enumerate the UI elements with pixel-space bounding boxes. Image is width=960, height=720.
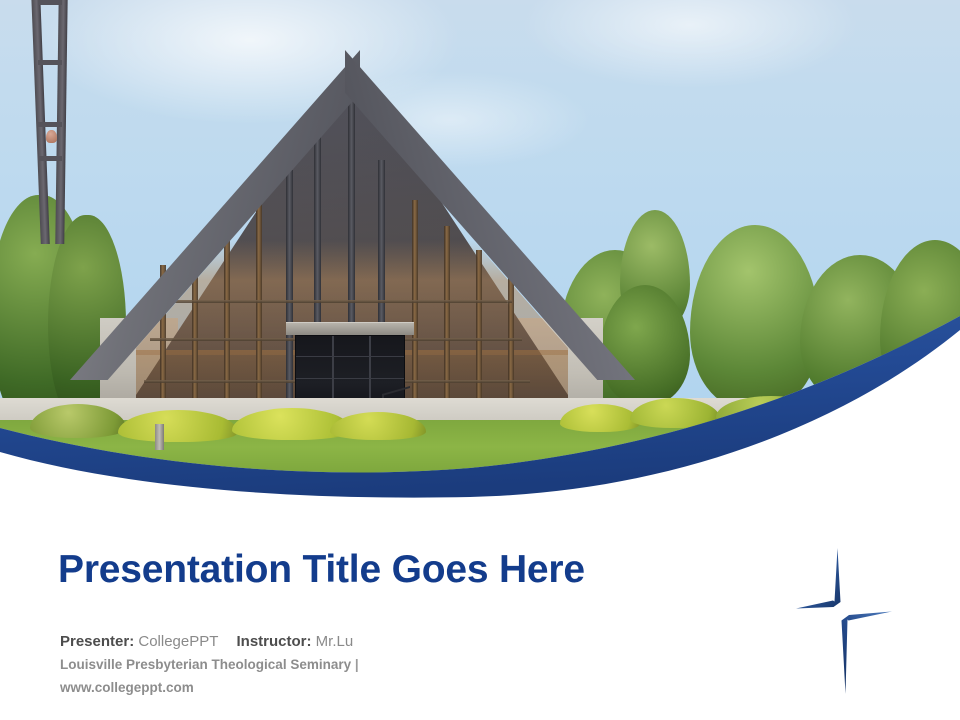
window-transom xyxy=(160,300,512,303)
window-mullion xyxy=(476,250,482,413)
presenter-value: CollegePPT xyxy=(138,633,218,650)
tower-crossbar xyxy=(38,122,62,127)
presenter-line: Presenter: CollegePPT Instructor: Mr.Lu xyxy=(60,630,359,653)
bell-tower xyxy=(34,0,68,244)
church-building xyxy=(100,50,600,450)
presentation-slide: Presentation Title Goes Here Presenter: … xyxy=(0,0,960,720)
hero-photo-region xyxy=(0,0,960,500)
door-rail xyxy=(296,378,404,379)
meta-separator: | xyxy=(355,657,359,672)
website-line: www.collegeppt.com xyxy=(60,676,359,699)
organization-line: Louisville Presbyterian Theological Semi… xyxy=(60,653,359,676)
window-mullion xyxy=(444,226,450,413)
door-rail xyxy=(296,356,404,357)
tower-crossbar xyxy=(38,156,62,161)
window-mullion xyxy=(508,272,514,413)
cross-lower-arm xyxy=(842,612,893,695)
path-lamp-post xyxy=(155,424,164,450)
window-mullion xyxy=(224,222,230,413)
presenter-meta-block: Presenter: CollegePPT Instructor: Mr.Lu … xyxy=(60,630,359,699)
tower-crossbar xyxy=(38,0,62,5)
church-photograph xyxy=(0,0,960,500)
instructor-value: Mr.Lu xyxy=(316,633,354,650)
organization-name: Louisville Presbyterian Theological Semi… xyxy=(60,657,351,672)
entry-canopy xyxy=(286,322,414,335)
page-title: Presentation Title Goes Here xyxy=(58,548,585,592)
bell-icon xyxy=(46,130,57,143)
website-url[interactable]: www.collegeppt.com xyxy=(60,680,194,695)
window-mullion xyxy=(286,170,293,413)
presbyterian-cross-logo xyxy=(792,545,896,697)
instructor-label: Instructor: xyxy=(237,633,312,650)
cross-upper-arm xyxy=(796,548,841,609)
tower-crossbar xyxy=(38,60,62,65)
presenter-label: Presenter: xyxy=(60,633,134,650)
